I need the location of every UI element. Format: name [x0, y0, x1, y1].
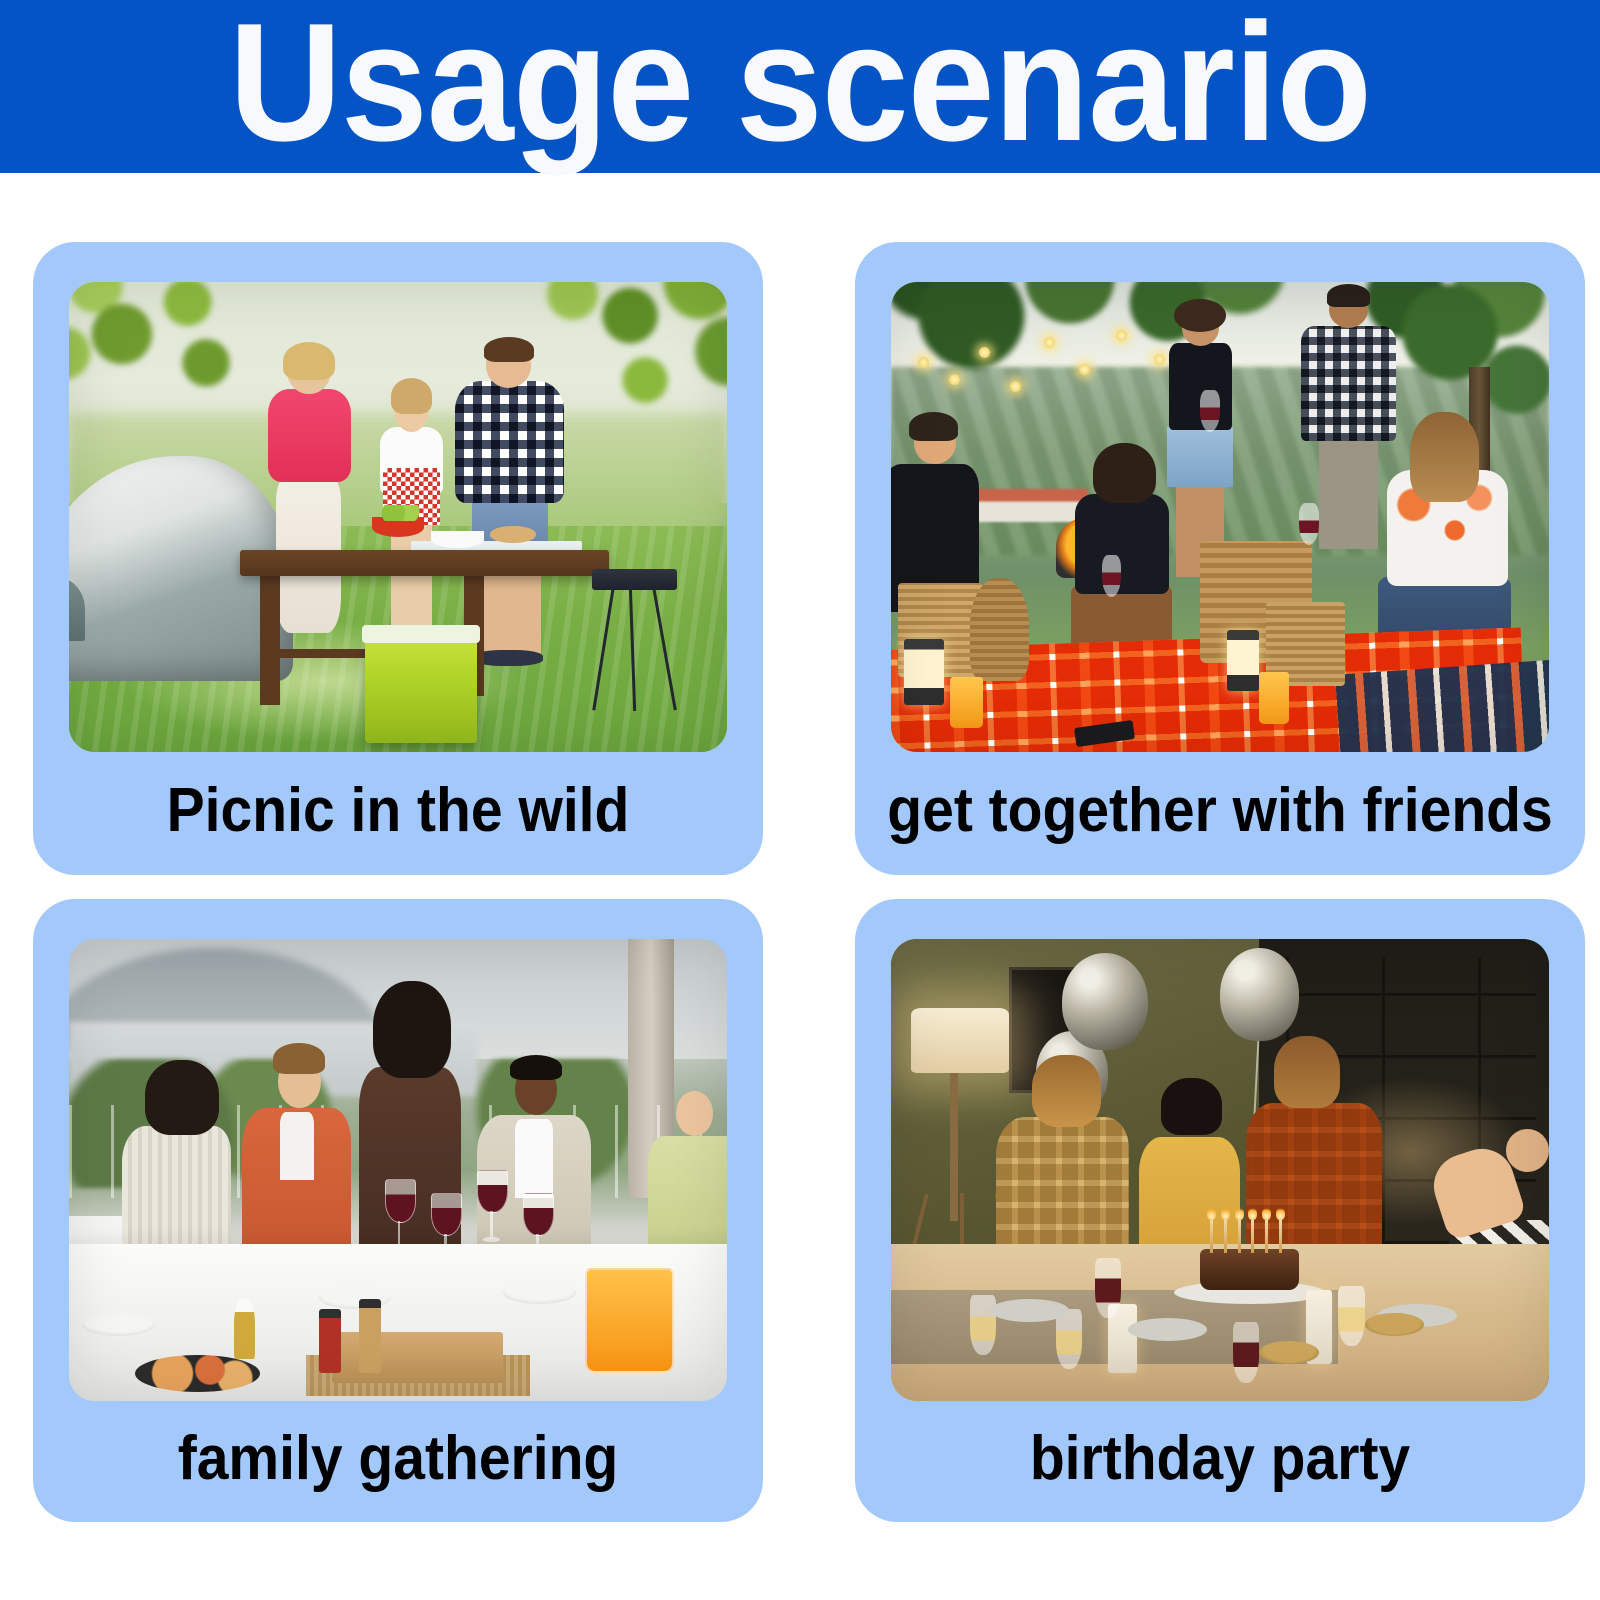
scenario-card-picnic-in-the-wild: Picnic in the wild	[33, 242, 763, 875]
header-banner: Usage scenario	[0, 0, 1600, 173]
caption-family-gathering: family gathering	[62, 1401, 734, 1522]
caption-birthday-party: birthday party	[884, 1401, 1556, 1522]
caption-picnic-in-the-wild: Picnic in the wild	[62, 752, 734, 875]
photo-get-together-with-friends	[891, 282, 1549, 752]
page-title: Usage scenario	[56, 0, 1544, 172]
photo-birthday-party	[891, 939, 1549, 1401]
scenario-card-grid: Picnic in the wild	[33, 242, 1585, 1522]
photo-picnic-in-the-wild	[69, 282, 727, 752]
photo-family-gathering	[69, 939, 727, 1401]
scenario-card-family-gathering: family gathering	[33, 899, 763, 1522]
caption-get-together-with-friends: get together with friends	[884, 752, 1556, 875]
scenario-card-birthday-party: birthday party	[855, 899, 1585, 1522]
scenario-card-get-together-with-friends: get together with friends	[855, 242, 1585, 875]
usage-scenario-page: Usage scenario	[0, 0, 1600, 1600]
